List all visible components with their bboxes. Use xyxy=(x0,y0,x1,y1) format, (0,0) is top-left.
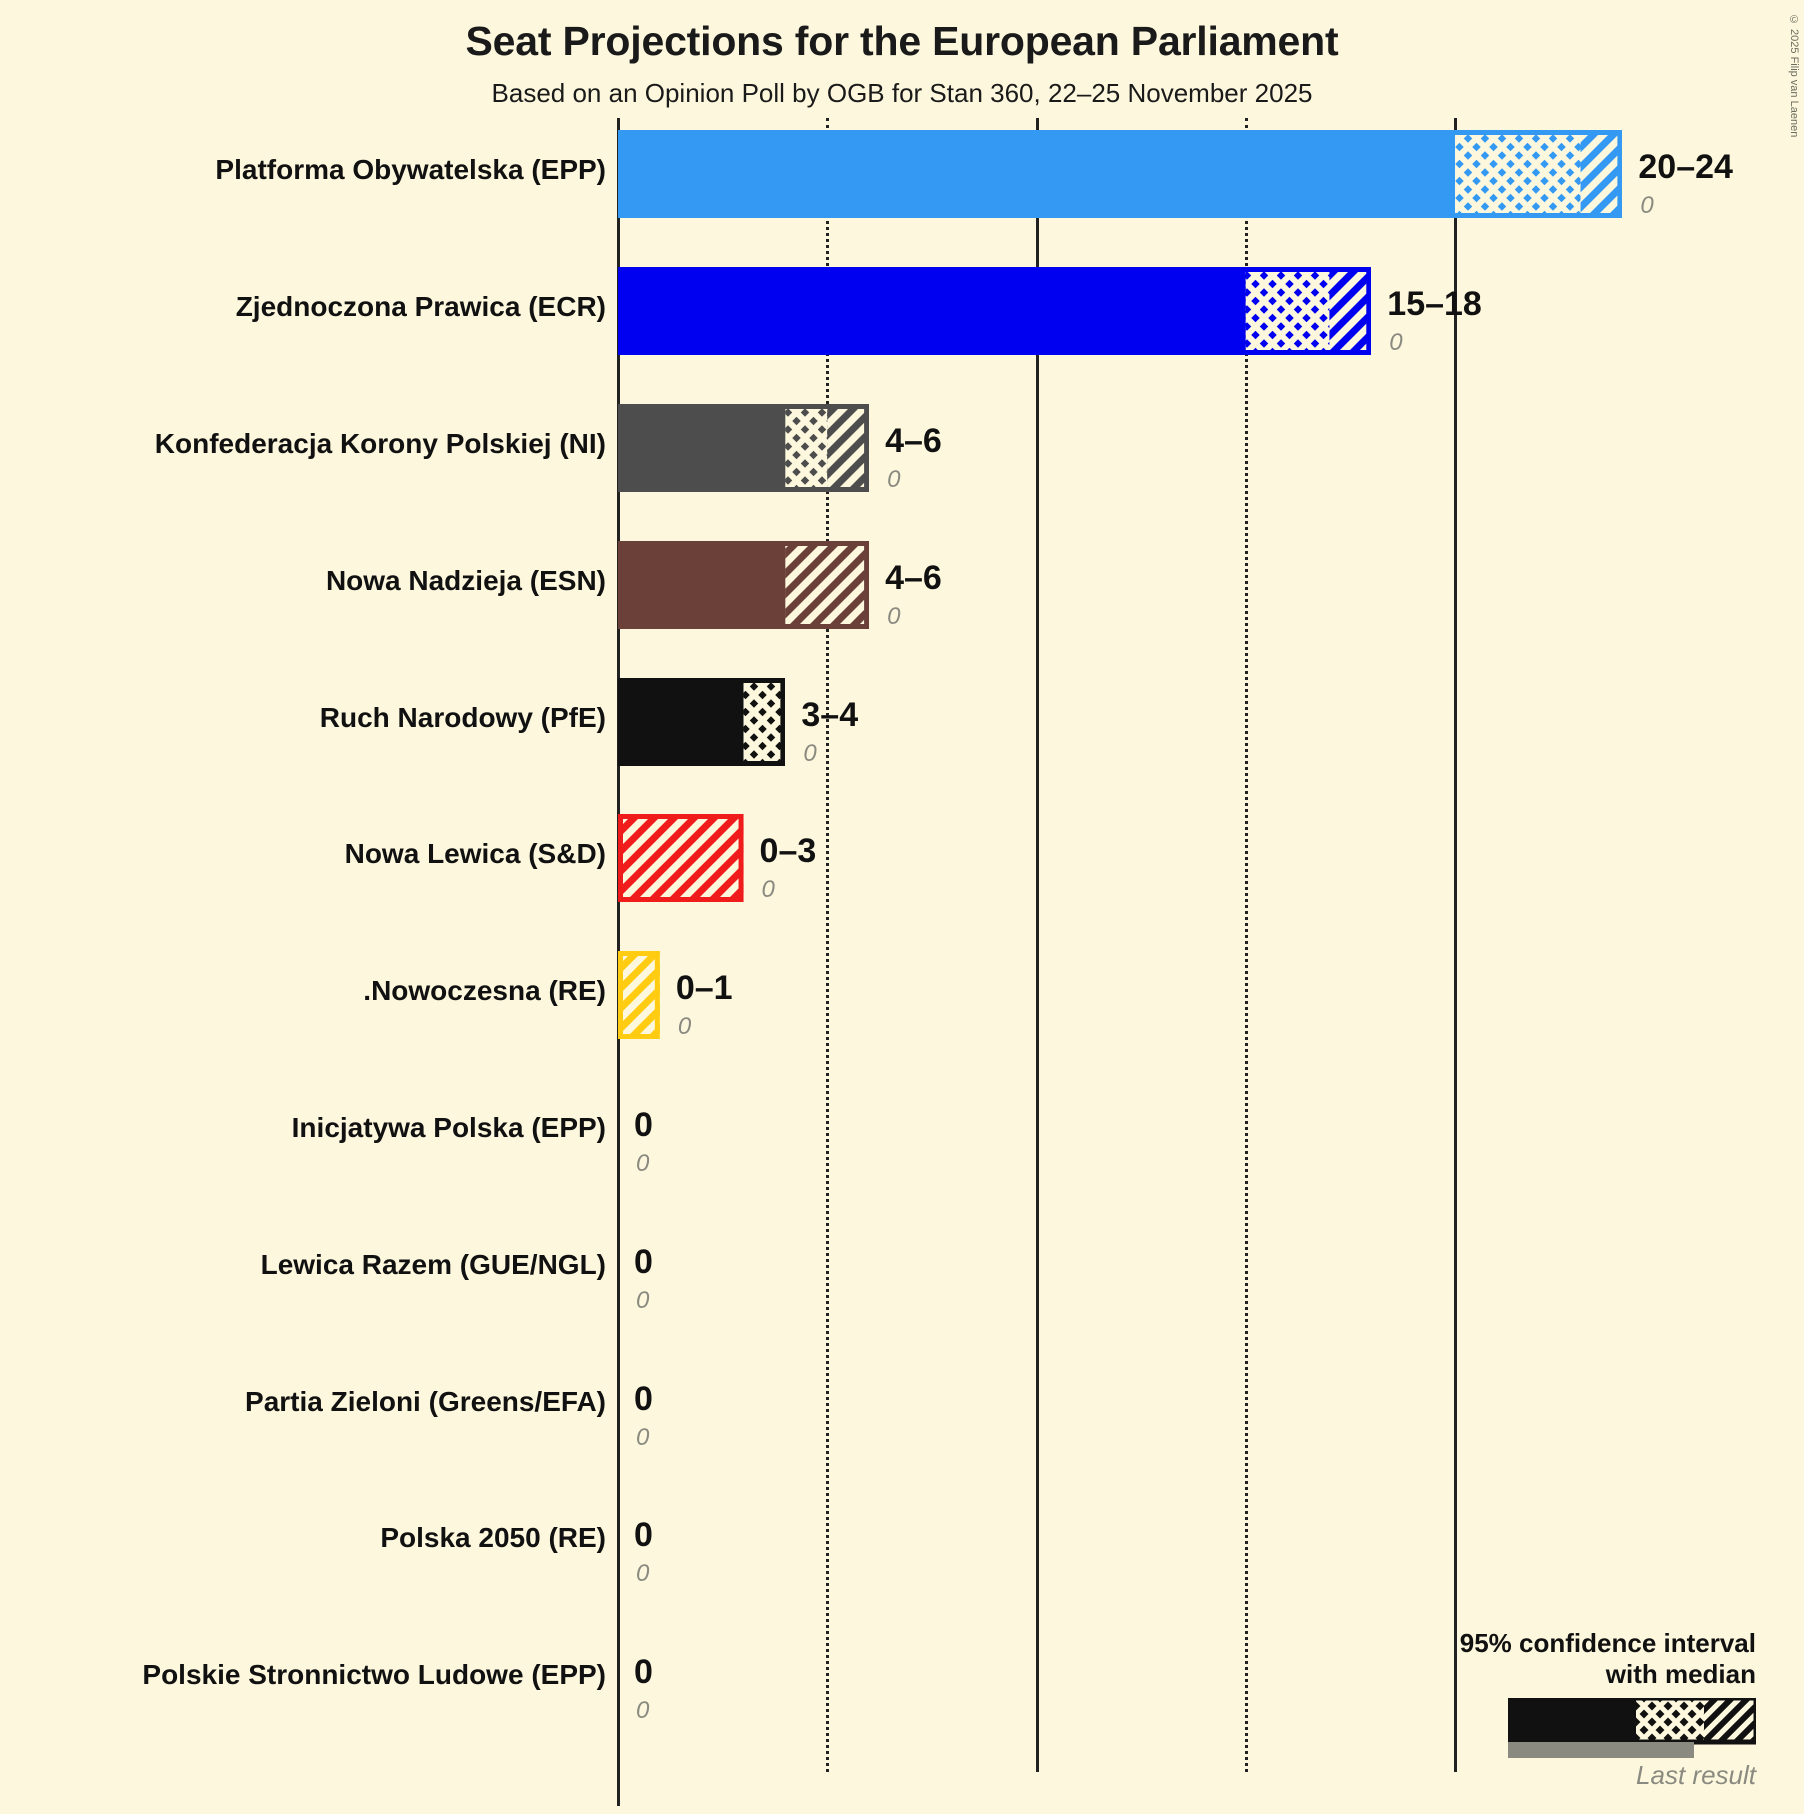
party-label: Ruch Narodowy (PfE) xyxy=(10,702,606,734)
legend-last-result-bar xyxy=(1508,1742,1694,1758)
party-last-result: 0 xyxy=(762,876,775,904)
party-bar xyxy=(618,267,1371,355)
gridline-5 xyxy=(826,118,829,1772)
party-last-result: 0 xyxy=(1640,192,1653,220)
party-last-result: 0 xyxy=(636,1697,649,1725)
legend-caption-line2: with median xyxy=(1156,1659,1756,1690)
party-last-result: 0 xyxy=(887,603,900,631)
party-seat-range: 4–6 xyxy=(885,559,942,598)
party-label: Nowa Nadzieja (ESN) xyxy=(10,565,606,597)
party-label: Platforma Obywatelska (EPP) xyxy=(10,154,606,186)
party-label: Polska 2050 (RE) xyxy=(10,1522,606,1554)
party-last-result: 0 xyxy=(803,740,816,768)
party-bar xyxy=(618,814,744,902)
party-label: .Nowoczesna (RE) xyxy=(10,975,606,1007)
legend-interval-bar xyxy=(1508,1698,1756,1746)
party-bar xyxy=(618,404,869,492)
party-label: Nowa Lewica (S&D) xyxy=(10,838,606,870)
party-seat-range: 15–18 xyxy=(1387,285,1482,324)
seat-projection-chart: Seat Projections for the European Parlia… xyxy=(0,0,1804,1814)
party-label: Zjednoczona Prawica (ECR) xyxy=(10,291,606,323)
gridline-10 xyxy=(1036,118,1039,1772)
party-label: Partia Zieloni (Greens/EFA) xyxy=(10,1386,606,1418)
party-bar xyxy=(618,951,660,1039)
party-seat-range: 4–6 xyxy=(885,422,942,461)
party-seat-range: 0 xyxy=(634,1243,653,1282)
legend-caption: 95% confidence interval with median xyxy=(1156,1628,1756,1689)
party-last-result: 0 xyxy=(678,1013,691,1041)
party-seat-range: 0 xyxy=(634,1380,653,1419)
party-bar xyxy=(618,130,1622,218)
party-seat-range: 0 xyxy=(634,1106,653,1145)
plot-area: Platforma Obywatelska (EPP)20–240Zjednoc… xyxy=(0,0,1804,1814)
gridline-20 xyxy=(1454,118,1457,1772)
party-last-result: 0 xyxy=(636,1424,649,1452)
party-label: Konfederacja Korony Polskiej (NI) xyxy=(10,428,606,460)
party-seat-range: 0–1 xyxy=(676,969,733,1008)
party-label: Lewica Razem (GUE/NGL) xyxy=(10,1249,606,1281)
party-last-result: 0 xyxy=(887,466,900,494)
party-seat-range: 0–3 xyxy=(760,832,817,871)
party-label: Polskie Stronnictwo Ludowe (EPP) xyxy=(10,1659,606,1691)
party-last-result: 0 xyxy=(636,1560,649,1588)
party-seat-range: 0 xyxy=(634,1516,653,1555)
party-seat-range: 20–24 xyxy=(1638,148,1733,187)
party-last-result: 0 xyxy=(636,1150,649,1178)
party-last-result: 0 xyxy=(1389,329,1402,357)
legend-caption-line1: 95% confidence interval xyxy=(1156,1628,1756,1659)
party-label: Inicjatywa Polska (EPP) xyxy=(10,1112,606,1144)
gridline-15 xyxy=(1245,118,1248,1772)
legend-last-result-label: Last result xyxy=(1456,1760,1756,1791)
party-seat-range: 0 xyxy=(634,1653,653,1692)
party-bar xyxy=(618,678,785,766)
party-bar xyxy=(618,541,869,629)
party-seat-range: 3–4 xyxy=(801,696,858,735)
party-last-result: 0 xyxy=(636,1287,649,1315)
